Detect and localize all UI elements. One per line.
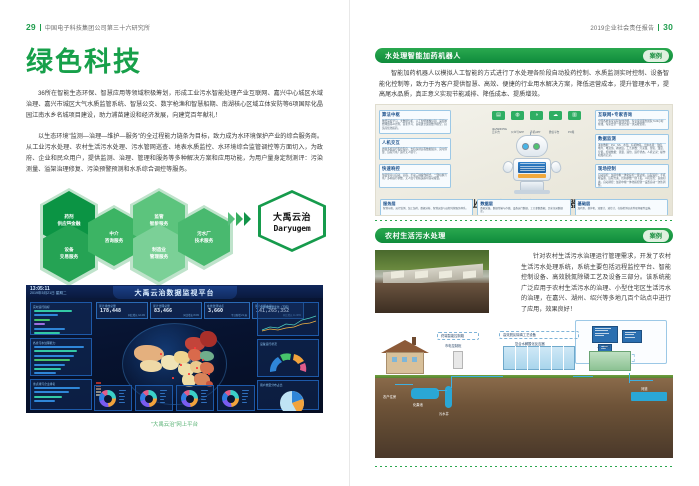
folio-divider [40, 24, 41, 31]
running-head-text-right: 2019企业社会责任报告 [590, 23, 654, 32]
map-marker [160, 353, 162, 355]
kpi-card-1: 累计排放总量 178,448 同比增长 12.4% [96, 302, 148, 319]
arrow-icon-1 [228, 212, 235, 226]
map-marker [208, 373, 210, 375]
card-heading: 现场控制 [596, 165, 668, 172]
card-heading: 服务层 [381, 200, 472, 207]
legend-lines [201, 390, 210, 405]
card-body: 数据采集、数据传输与存储、设备运行数据、工艺参数数据、历史记录数据库。 [478, 207, 569, 213]
cloud-platform-icon: ▤ [492, 111, 505, 120]
wechat-app-icon: ◍ [511, 111, 524, 120]
card-internet-expert: 互联网+专家咨询 全国各地专家远程在线诊断，专业运营服务团队7×24小时在线，专… [595, 110, 669, 130]
panel-caption: 实时运行指标 [33, 305, 50, 309]
robot-eye-left [522, 143, 529, 150]
hex-label-line2: 交易服务 [60, 253, 78, 260]
hex-label-line2: 咨询服务 [105, 237, 123, 244]
bar [34, 387, 80, 389]
bottom-cell [176, 385, 214, 411]
map-marker [202, 359, 204, 361]
bar [34, 400, 55, 402]
panel-caption: 各省污水处理能力 [33, 341, 55, 345]
window [402, 357, 407, 362]
arrow-icon-3 [244, 212, 251, 226]
hex-label-line2: 管理服务 [150, 253, 168, 260]
dashboard-screenshot: 13:05:11 2019年5月21日 星期二 大禹云治数据监视平台 累计排放总… [26, 285, 323, 413]
desktop-icon: ▥ [568, 111, 581, 120]
card-data-layer: 数据层 数据采集、数据传输与存储、设备运行数据、工艺参数数据、历史记录数据库。 [477, 199, 570, 216]
section-divider-2 [375, 466, 673, 467]
panel-bars [34, 310, 88, 336]
map-region-tibet [140, 360, 162, 372]
card-data-monitoring: 数据监测 进水数据：PH、SS、水温、有机物等。出水水质：浊度、电导、电流值、磷… [595, 134, 669, 160]
icon-glyph: ☁ [553, 113, 558, 118]
channel-pc: ▥ PC端 [568, 111, 581, 138]
window [412, 357, 417, 362]
kpi-card-2: 累计治理总量 83,466 同比增长 8.6% [150, 302, 202, 319]
pipe-reactor-to-wetland [573, 376, 593, 377]
kpi-card-3: 在线监测站点 3,660 今日新增 21 座 [204, 302, 250, 319]
label-wetland: 人工湿地 [597, 344, 610, 349]
pie-chart [258, 387, 320, 411]
bottom-cell [94, 385, 132, 411]
bar [34, 359, 70, 361]
rural-sewage-schematic: 远程监控 远程监控平台 农户住房 化粪池 污水井 终端智能控制箱 市电控制柜 高… [375, 318, 673, 458]
robot-control-strip [518, 174, 546, 178]
robot-illustration [504, 135, 560, 195]
hex-label-line1: 设备 [64, 246, 73, 253]
dashboard-panel-left-2: 各省污水处理能力 [30, 338, 92, 376]
map-region-dongbei [200, 331, 217, 347]
pipe-drop [629, 373, 630, 383]
icon-glyph: ▥ [572, 113, 577, 118]
icon-caption: 手机APP [530, 131, 540, 134]
bar [34, 364, 65, 366]
card-body: 全国各地专家远程在线诊断，专业运营服务团队7×24小时在线，专家会诊一键式方案一… [596, 120, 668, 128]
robot-eye-right [533, 143, 540, 150]
monitor-small [622, 330, 642, 343]
robot-foot [514, 190, 550, 194]
pipe-house-to-septic [395, 384, 413, 385]
river [631, 392, 667, 401]
reactor-fin [539, 346, 540, 370]
clock-date: 2019年5月21日 [30, 291, 55, 295]
map-marker [172, 377, 174, 379]
photo-access-pad [439, 270, 452, 278]
robot-screen [518, 162, 546, 173]
bottom-cell [217, 385, 255, 411]
icon-caption: PC端 [568, 131, 574, 134]
label-sewage-well: 污水井 [439, 411, 449, 416]
label-farmhouse: 农户住房 [383, 394, 396, 399]
panel-bars [34, 346, 88, 377]
farmhouse [381, 340, 429, 376]
card-service-layer: 服务层 智慧节能、运行监测、加工加药、数据分析、智慧运维与远程托管服务体系。 [380, 199, 473, 216]
kpi-value: 178,448 [100, 308, 121, 314]
hex-label-line1: 污水厂 [197, 230, 211, 237]
reactor-fin [515, 346, 516, 370]
card-infrastructure-layer: 基础层 加药泵、搅拌机、流量计、液位计、在线检测仪表等现场硬件设施。 [575, 199, 668, 216]
channel-wechat-official: ◍ 公众号APP [511, 111, 524, 138]
section-1-paragraph: 智能加药机器人以模拟人工智能的方式进行了水处理各阶段自动投药控制、水质监测实时控… [379, 69, 669, 101]
panel-caption: 用户类型分布占比 [260, 383, 282, 387]
brand-hexagon-inner: 大禹云治 Daryugem [261, 193, 323, 249]
bar [34, 328, 65, 330]
card-algorithm-core: 算法中枢 依托深度学习、大数据分析、人工智能图像识别、深度神经网络等AI计算，自… [379, 110, 451, 134]
card-heading: 互联网+专家咨询 [596, 111, 668, 118]
bar [34, 396, 62, 398]
folio-divider [658, 24, 659, 31]
card-body: 智慧节能、运行监测、加工加药、数据分析、智慧运维与远程托管服务体系。 [381, 207, 472, 210]
mobile-app-icon: ◑ [530, 111, 543, 120]
running-head-right: 2019企业社会责任报告 30 [590, 22, 673, 32]
donut-chart [99, 390, 116, 407]
panel-caption: 设备运行状况 [260, 342, 277, 346]
dashboard-panel-left-1: 实时运行指标 [30, 302, 92, 335]
cloud-icon: ☁ [549, 111, 562, 120]
donut-chart [222, 390, 239, 407]
card-heading: 人机交互 [380, 139, 450, 146]
bar [34, 319, 50, 321]
map-marker [188, 373, 190, 375]
robot-arm-right [549, 160, 562, 175]
legend-lines [160, 390, 169, 405]
kpi-sub: 今日新增 21 座 [231, 313, 247, 317]
reactor-fin [527, 346, 528, 370]
pipe-wetland-to-river [629, 380, 653, 381]
bar [34, 391, 69, 393]
magazine-spread: 29 中国电子科技集团公司第三十六研究所 绿色科技 36所在智能生态环保、智慧应… [0, 0, 699, 486]
house-wall [386, 352, 424, 374]
card-heading: 算法中枢 [380, 111, 450, 118]
dashboard-bottom-strip [94, 385, 255, 411]
window [392, 357, 397, 362]
label-nitrogen-removal-process: 高效脱氮除磷工艺设备 [503, 332, 536, 337]
reactor-fin [563, 346, 564, 370]
hex-label-line1: 中介 [109, 230, 118, 237]
layer-card-row: 服务层 智慧节能、运行监测、加工加药、数据分析、智慧运维与远程托管服务体系。 数… [380, 199, 668, 216]
dashboard-panel-left-3: 重点排污企业排名 [30, 379, 92, 410]
section-title: 水处理智能加药机器人 [385, 51, 461, 61]
section-header-robot: 水处理智能加药机器人 案例 [375, 48, 673, 63]
robot-infographic: ▤ 云平台 ◍ 公众号APP ◑ 手机APP ☁ 微信平台 ▥ PC端 [375, 104, 673, 216]
pipe-well-to-reactor [451, 376, 503, 377]
network-label: 4G/WIFI/5G [492, 127, 507, 131]
septic-tank [411, 388, 439, 399]
bar [34, 323, 45, 325]
status-badge: 案例 [643, 230, 669, 242]
channel-wechat-platform: ☁ 微信平台 [549, 111, 562, 138]
dashboard-panel-right-3: 用户类型分布占比 [257, 380, 319, 410]
icon-glyph: ◑ [535, 113, 538, 118]
running-head-left: 29 中国电子科技集团公司第三十六研究所 [26, 22, 150, 32]
kpi-sub: 同比增长 8.6% [183, 313, 199, 317]
left-page: 29 中国电子科技集团公司第三十六研究所 绿色科技 36所在智能生态环保、智慧应… [0, 0, 349, 486]
channel-mobile-app: ◑ 手机APP [530, 111, 543, 138]
card-human-machine: 人机交互 内嵌多核运行程控程序，支持多屏远程数据展示、实时预警、远程污水厂运行无… [379, 138, 451, 160]
dashboard-clock: 13:05:11 2019年5月21日 星期二 [30, 287, 67, 295]
icon-caption: 公众号APP [511, 131, 524, 134]
dashboard-caption: "大禹云治"网上平台 [0, 420, 349, 428]
page-folio-left: 29 [26, 22, 36, 32]
arrow-icon-2 [236, 212, 243, 226]
dashboard-title: 大禹云治数据监视平台 [113, 286, 237, 299]
photo-soil [375, 283, 489, 313]
left-paragraph-2: 以生态环境"监测—治理—维护—服务"的全过程能力链条为目标，致力成为水环境保护产… [26, 131, 323, 175]
photo-access-pad [415, 270, 428, 278]
kpi-value: 3,660 [208, 308, 223, 314]
section-divider-1 [375, 220, 673, 221]
legend-lines [119, 390, 128, 405]
bar [34, 310, 72, 312]
section-title: 农村生活污水处理 [385, 231, 446, 241]
hex-label-line2: 技术服务 [195, 237, 213, 244]
pipe-riser [451, 376, 452, 388]
card-heading: 数据监测 [596, 135, 668, 142]
hex-label-line1: 监管 [154, 213, 163, 220]
section-2-paragraph: 针对农村生活污水治理运行管理需求，开发了农村生活污水处理系统，系统主要包括远程监… [521, 252, 671, 315]
card-body: 加药泵、搅拌机、流量计、液位计、在线检测仪表等现场硬件设施。 [576, 207, 667, 210]
kpi-sub: 同比增长 12.4% [128, 313, 145, 317]
robot-head [516, 135, 548, 157]
hex-label-line1: 制造业 [152, 246, 166, 253]
radial-gauge-chart [258, 348, 320, 378]
card-rapid-response: 快速响控 加药泵可以自动、远程、手动三种操作模式，一键切换污水厂多种运行参数、无… [379, 164, 451, 188]
card-heading: 快速响控 [380, 165, 450, 172]
map-marker [180, 364, 182, 366]
panel-bars [34, 387, 88, 405]
icon-glyph: ◍ [515, 113, 519, 118]
right-page: 2019企业社会责任报告 30 水处理智能加药机器人 案例 智能加药机器人以模拟… [349, 0, 699, 486]
line-chart [258, 312, 320, 334]
card-heading: 基础层 [576, 200, 667, 207]
bottom-cell [135, 385, 173, 411]
dashboard-panel-right-2: 设备运行状况 [257, 339, 319, 377]
spread-gutter [349, 0, 350, 486]
bar [34, 350, 77, 352]
label-mains-cabinet: 市电控制柜 [445, 343, 461, 348]
bar [34, 346, 84, 348]
section-header-rural: 农村生活污水处理 案例 [375, 228, 673, 243]
clock-day: 星期二 [56, 291, 67, 295]
monitor-large [592, 326, 618, 343]
map-marker [196, 367, 198, 369]
icon-glyph: ▤ [496, 113, 501, 118]
hex-label-line1: 药剂 [64, 213, 73, 220]
card-body: 加药泵可以自动、远程、手动三种操作模式，一键切换污水厂多种运行参数、无人监守的投… [380, 174, 450, 182]
label-river: 河道 [641, 386, 648, 391]
card-field-control: 现场控制 自动运控：加药中枢一体化投控一键达成。远程运控：手机端设备、远程方案、… [595, 164, 669, 188]
status-badge: 案例 [643, 50, 669, 62]
bar [34, 332, 60, 334]
bar [34, 355, 74, 357]
left-paragraph-1: 36所在智能生态环保、智慧应用等领域积极筹划，形成工业污水智能处理产业互联网、嘉… [26, 88, 323, 121]
kpi-value: 83,466 [154, 308, 172, 314]
control-cabinet [453, 351, 463, 369]
page-folio-right: 30 [663, 22, 673, 32]
site-photo [375, 250, 489, 313]
icon-caption: 云平台 [492, 131, 500, 134]
card-body: 内嵌多核运行程控程序，支持多屏远程数据展示、实时预警、远程污水厂运行无人值守。 [380, 148, 450, 156]
pipe-septic-to-well [437, 390, 447, 391]
channel-cloud-platform: ▤ 云平台 [492, 111, 505, 138]
icon-caption: 微信平台 [549, 131, 559, 134]
channel-icon-row: ▤ 云平台 ◍ 公众号APP ◑ 手机APP ☁ 微信平台 ▥ PC端 [492, 111, 581, 138]
dashboard-panel-right-1: 全年排放量变化（万吨） [257, 302, 319, 336]
donut-chart [140, 390, 157, 407]
flow-arrows [228, 212, 251, 226]
photo-access-pad [463, 270, 476, 278]
panel-caption: 全年排放量变化（万吨） [260, 305, 291, 309]
brand-name-en: Daryugem [274, 224, 311, 233]
legend-swatch [96, 382, 101, 384]
reactor-fin [551, 346, 552, 370]
running-head-text-left: 中国电子科技集团公司第三十六研究所 [45, 23, 150, 32]
constructed-wetland [589, 351, 631, 371]
card-body: 自动运控：加药中枢一体化投控一键达成。远程运控：手机端设备、远程方案、控制参数一… [596, 174, 668, 189]
panel-caption: 重点排污企业排名 [33, 382, 55, 386]
card-heading: 数据层 [478, 200, 569, 207]
card-body: 依托深度学习、大数据分析、人工智能图像识别、深度神经网络等AI计算，自主学习、自… [380, 120, 450, 132]
label-septic-tank: 化粪池 [413, 402, 423, 407]
map-marker [194, 347, 196, 349]
card-body: 进水数据：PH、SS、水温、有机物等。出水水质：浊度、电导、电流值、磷浓度。工艺… [596, 144, 668, 159]
legend-lines [242, 390, 251, 405]
brand-name-cn: 大禹云治 [273, 210, 311, 223]
bar [34, 372, 56, 374]
bar [34, 368, 61, 370]
photo-access-pad [391, 270, 404, 278]
label-terminal-controller: 终端智能控制箱 [441, 333, 464, 338]
donut-chart [181, 390, 198, 407]
bar [34, 314, 58, 316]
page-title: 绿色科技 [26, 40, 142, 79]
